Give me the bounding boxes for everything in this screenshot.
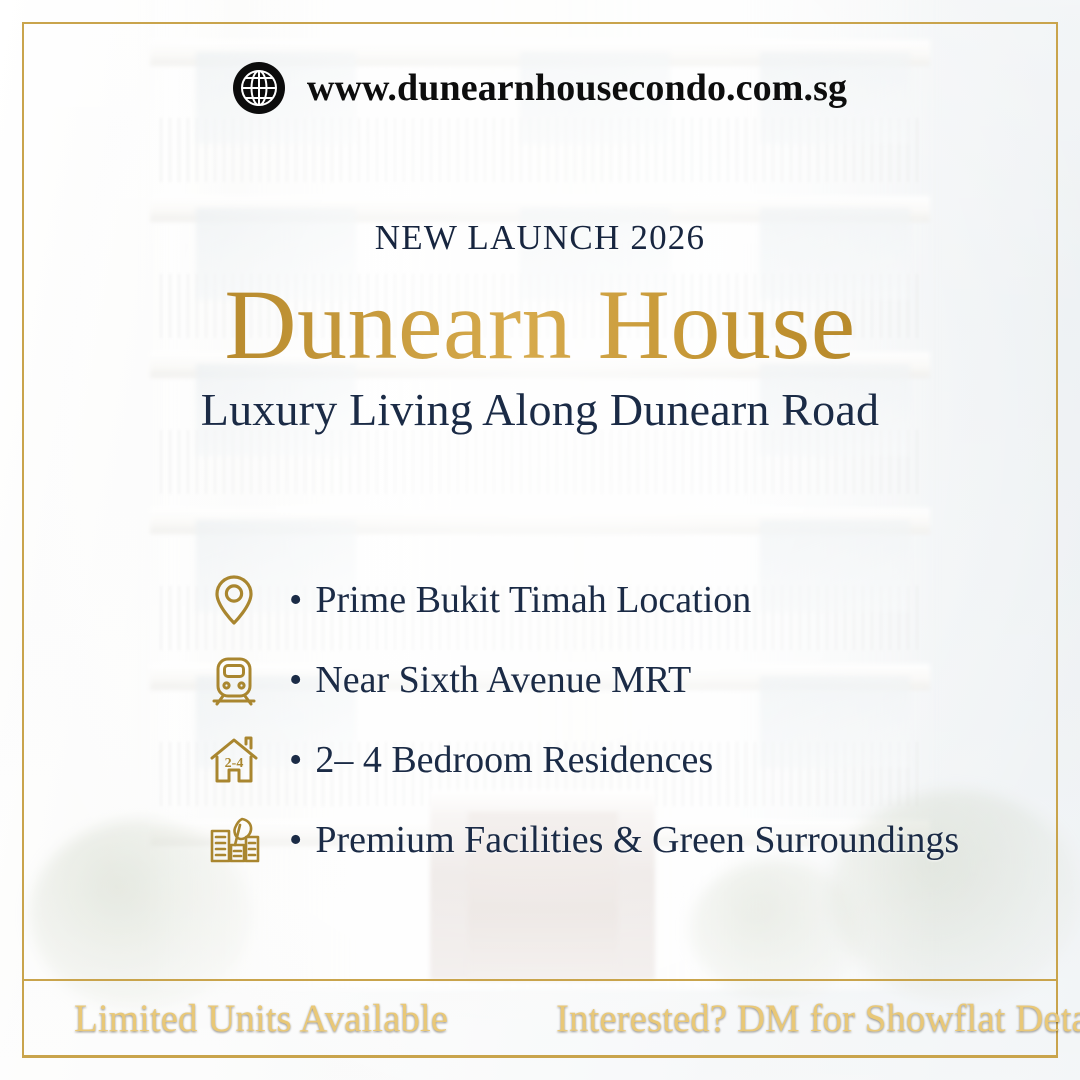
- bullet-glyph: •: [289, 819, 302, 861]
- list-item: 2-4 •2– 4 Bedroom Residences: [205, 720, 959, 800]
- train-icon: [205, 651, 263, 709]
- website-bar: www.dunearnhousecondo.com.sg: [0, 62, 1080, 114]
- list-item-label: •Prime Bukit Timah Location: [289, 578, 751, 622]
- location-pin-icon: [205, 571, 263, 629]
- list-item-label: •Near Sixth Avenue MRT: [289, 658, 691, 702]
- bullet-glyph: •: [289, 739, 302, 781]
- list-item: •Premium Facilities & Green Surroundings: [205, 800, 959, 880]
- page-subtitle: Luxury Living Along Dunearn Road: [0, 383, 1080, 436]
- background-building-photo: [0, 0, 1080, 1080]
- bullet-glyph: •: [289, 659, 302, 701]
- list-item: •Prime Bukit Timah Location: [205, 560, 959, 640]
- list-item-label: •2– 4 Bedroom Residences: [289, 738, 713, 782]
- list-item: •Near Sixth Avenue MRT: [205, 640, 959, 720]
- website-url[interactable]: www.dunearnhousecondo.com.sg: [307, 66, 847, 110]
- house-icon: 2-4: [205, 731, 263, 789]
- house-badge-text: 2-4: [225, 756, 244, 771]
- dm-cta-text[interactable]: Interested? DM for Showflat Details: [556, 996, 1080, 1041]
- limited-units-text: Limited Units Available: [74, 996, 448, 1041]
- eco-buildings-icon: [205, 811, 263, 869]
- page-title: Dunearn House: [0, 272, 1080, 377]
- globe-icon: [233, 62, 285, 114]
- list-item-label: •Premium Facilities & Green Surroundings: [289, 818, 959, 862]
- poster-canvas: www.dunearnhousecondo.com.sg NEW LAUNCH …: [0, 0, 1080, 1080]
- bullet-glyph: •: [289, 579, 302, 621]
- hero-block: NEW LAUNCH 2026 Dunearn House Luxury Liv…: [0, 218, 1080, 436]
- feature-list: •Prime Bukit Timah Location •Near Sixth …: [205, 560, 959, 880]
- cta-banner: Limited Units Available Interested? DM f…: [0, 967, 1080, 1080]
- launch-eyebrow: NEW LAUNCH 2026: [0, 218, 1080, 258]
